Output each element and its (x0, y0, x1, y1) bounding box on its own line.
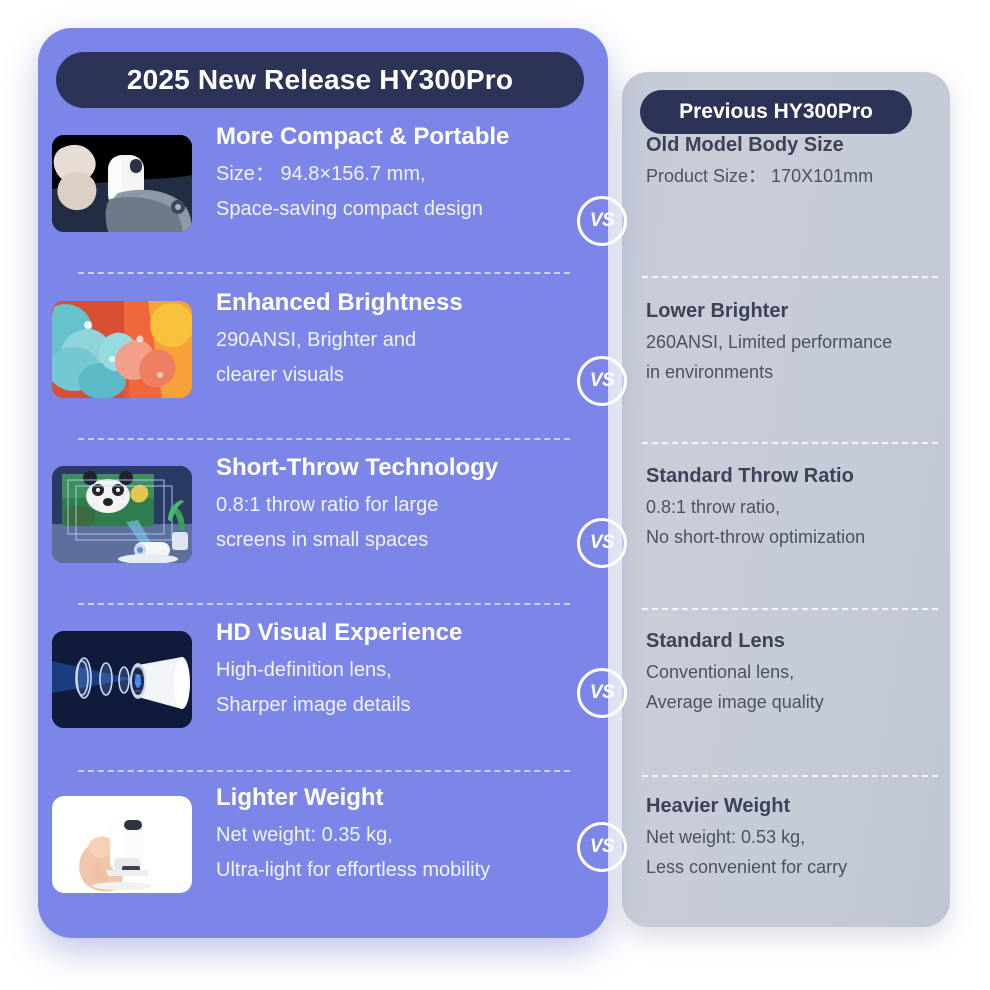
new-feature-title: HD Visual Experience (216, 618, 588, 648)
new-model-feature: Short-Throw Technology0.8:1 throw ratio … (216, 453, 588, 558)
vs-label: VS (590, 682, 614, 704)
old-feature-line1: 0.8:1 throw ratio, (646, 492, 946, 522)
feature-thumbnail-exploded-lens-photo (52, 631, 192, 728)
old-feature-line2: No short-throw optimization (646, 522, 946, 552)
old-model-feature: Standard LensConventional lens,Average i… (646, 628, 946, 717)
vs-badge: VS (577, 822, 627, 872)
old-model-feature: Standard Throw Ratio0.8:1 throw ratio,No… (646, 463, 946, 552)
old-feature-line1: Net weight: 0.53 kg, (646, 822, 946, 852)
old-feature-line1: Conventional lens, (646, 657, 946, 687)
old-feature-title: Standard Lens (646, 628, 946, 655)
old-feature-line2: in environments (646, 357, 946, 387)
row-divider (78, 770, 570, 772)
vs-badge: VS (577, 196, 627, 246)
feature-thumbnail-colorful-flowers-photo (52, 301, 192, 398)
vs-badge: VS (577, 668, 627, 718)
old-feature-title: Old Model Body Size (646, 132, 946, 159)
vs-badge: VS (577, 518, 627, 568)
old-feature-line1: 260ANSI, Limited performance (646, 327, 946, 357)
new-model-title-badge: 2025 New Release HY300Pro (56, 52, 584, 108)
old-feature-title: Heavier Weight (646, 793, 946, 820)
feature-thumbnail-projector-in-bag-photo (52, 135, 192, 232)
new-feature-line1: 290ANSI, Brighter and (216, 323, 588, 358)
vs-label: VS (590, 836, 614, 858)
new-feature-line1: Size： 94.8×156.7 mm, (216, 157, 588, 192)
comparison-row: Short-Throw Technology0.8:1 throw ratio … (0, 453, 990, 618)
new-model-feature: More Compact & PortableSize： 94.8×156.7 … (216, 122, 588, 227)
new-model-feature: Enhanced Brightness290ANSI, Brighter and… (216, 288, 588, 393)
comparison-row: Lighter WeightNet weight: 0.35 kg,Ultra-… (0, 783, 990, 948)
old-model-feature: Old Model Body SizeProduct Size： 170X101… (646, 132, 946, 191)
new-feature-title: Lighter Weight (216, 783, 588, 813)
vs-label: VS (590, 370, 614, 392)
comparison-row: Enhanced Brightness290ANSI, Brighter and… (0, 288, 990, 453)
feature-thumbnail-projector-panda-screen-photo (52, 466, 192, 563)
old-feature-line1: Product Size： 170X101mm (646, 161, 946, 191)
feature-thumbnail-hand-holding-projector-photo (52, 796, 192, 893)
new-feature-line1: Net weight: 0.35 kg, (216, 818, 588, 853)
row-divider (642, 608, 938, 610)
row-divider (642, 442, 938, 444)
new-feature-title: More Compact & Portable (216, 122, 588, 152)
old-feature-title: Standard Throw Ratio (646, 463, 946, 490)
row-divider (642, 775, 938, 777)
old-feature-line2: Less convenient for carry (646, 852, 946, 882)
new-feature-line2: Ultra-light for effortless mobility (216, 853, 588, 888)
new-feature-line1: High-definition lens, (216, 653, 588, 688)
new-feature-line2: Space-saving compact design (216, 192, 588, 227)
old-feature-line2: Average image quality (646, 687, 946, 717)
comparison-infographic: 2025 New Release HY300Pro Previous HY300… (0, 0, 990, 990)
new-model-title: 2025 New Release HY300Pro (127, 64, 513, 96)
previous-model-title: Previous HY300Pro (679, 100, 873, 124)
new-model-feature: Lighter WeightNet weight: 0.35 kg,Ultra-… (216, 783, 588, 888)
vs-label: VS (590, 532, 614, 554)
vs-badge: VS (577, 356, 627, 406)
new-feature-line2: clearer visuals (216, 358, 588, 393)
old-feature-title: Lower Brighter (646, 298, 946, 325)
comparison-row: More Compact & PortableSize： 94.8×156.7 … (0, 122, 990, 287)
comparison-row: HD Visual ExperienceHigh-definition lens… (0, 618, 990, 783)
new-feature-line1: 0.8:1 throw ratio for large (216, 488, 588, 523)
row-divider (78, 272, 570, 274)
row-divider (78, 438, 570, 440)
row-divider (78, 603, 570, 605)
new-feature-title: Enhanced Brightness (216, 288, 588, 318)
vs-label: VS (590, 210, 614, 232)
new-feature-line2: Sharper image details (216, 688, 588, 723)
old-model-feature: Lower Brighter260ANSI, Limited performan… (646, 298, 946, 387)
new-model-feature: HD Visual ExperienceHigh-definition lens… (216, 618, 588, 723)
row-divider (642, 276, 938, 278)
old-model-feature: Heavier WeightNet weight: 0.53 kg,Less c… (646, 793, 946, 882)
new-feature-line2: screens in small spaces (216, 523, 588, 558)
new-feature-title: Short-Throw Technology (216, 453, 588, 483)
